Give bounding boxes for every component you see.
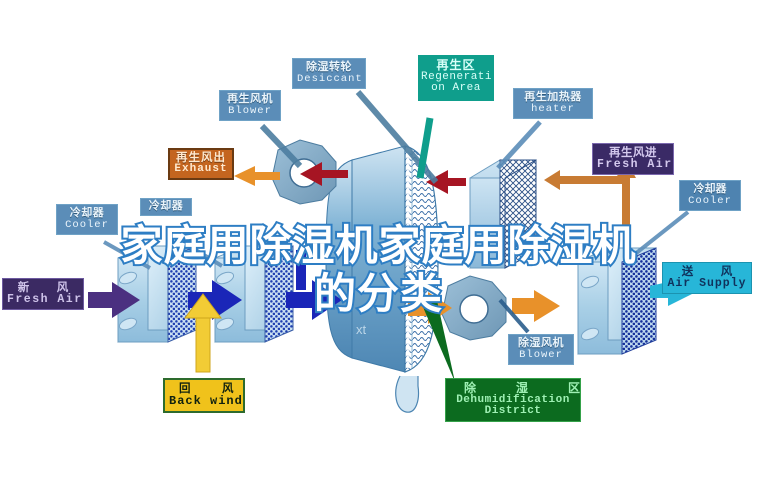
label-exhaust: 再生风出 Exhaust: [168, 148, 234, 180]
label-dehumidify-blower-cn: 除湿风机: [513, 338, 569, 350]
label-dehumidification-district-cn: 除 湿 区: [450, 382, 576, 395]
label-regeneration-heater: 再生加热器 heater: [513, 88, 593, 119]
label-cooler-left-1: 冷却器 Cooler: [56, 204, 118, 235]
label-dehumidify-blower-en: Blower: [513, 350, 569, 361]
label-regeneration-area-cn: 再生区: [421, 59, 491, 72]
label-dehumidify-blower: 除湿风机 Blower: [508, 334, 574, 365]
label-back-wind-en: Back wind: [169, 395, 239, 408]
arrow-air-up: [296, 250, 306, 290]
label-dehumidification-district-en-2: District: [450, 406, 576, 418]
label-desiccant-wheel-cn: 除湿转轮: [297, 62, 361, 74]
label-regeneration-blower-cn: 再生风机: [224, 94, 276, 106]
label-air-supply: 送 风 Air Supply: [662, 262, 752, 294]
label-desiccant-wheel: 除湿转轮 Desiccant: [292, 58, 366, 89]
label-air-supply-en: Air Supply: [667, 278, 747, 290]
arrow-blower-to-cooler: [512, 290, 560, 322]
label-back-wind: 回 风 Back wind: [163, 378, 245, 413]
regeneration-heater: [470, 160, 536, 268]
label-regeneration-heater-cn: 再生加热器: [518, 92, 588, 104]
label-regeneration-area-en-2: on Area: [421, 83, 491, 95]
label-regeneration-blower: 再生风机 Blower: [219, 90, 281, 121]
label-fresh-air-en: Fresh Air: [7, 294, 79, 306]
diagram-canvas: xt: [0, 0, 757, 488]
label-exhaust-en: Exhaust: [173, 164, 229, 176]
cooler-unit-right: [578, 248, 656, 354]
label-cooler-left-2-cn: 冷却器: [144, 201, 188, 213]
label-cooler-left-1-cn: 冷却器: [61, 208, 113, 220]
label-regeneration-area: 再生区 Regenerati on Area: [418, 55, 494, 101]
label-dehumidification-district: 除 湿 区 Dehumidification District: [445, 378, 581, 422]
label-cooler-right-cn: 冷却器: [684, 184, 736, 196]
label-regeneration-heater-en: heater: [518, 104, 588, 115]
label-regeneration-fresh-air: 再生风进 Fresh Air: [592, 143, 674, 175]
dehumidifier-diagram: xt 再生风机 Blower 除湿转轮 Desiccant 再生区 Regene…: [0, 0, 757, 488]
label-regeneration-fresh-air-en: Fresh Air: [597, 159, 669, 171]
desiccant-wheel: [326, 146, 438, 412]
label-cooler-left-1-en: Cooler: [61, 220, 113, 231]
arrow-exhaust: [234, 166, 280, 186]
label-cooler-right-en: Cooler: [684, 196, 736, 207]
label-regeneration-blower-en: Blower: [224, 106, 276, 117]
label-cooler-left-2: 冷却器: [140, 198, 192, 216]
wheel-ghost-text: xt: [356, 322, 367, 337]
label-fresh-air: 新 风 Fresh Air: [2, 278, 84, 310]
label-cooler-right: 冷却器 Cooler: [679, 180, 741, 211]
label-desiccant-wheel-en: Desiccant: [297, 74, 361, 85]
